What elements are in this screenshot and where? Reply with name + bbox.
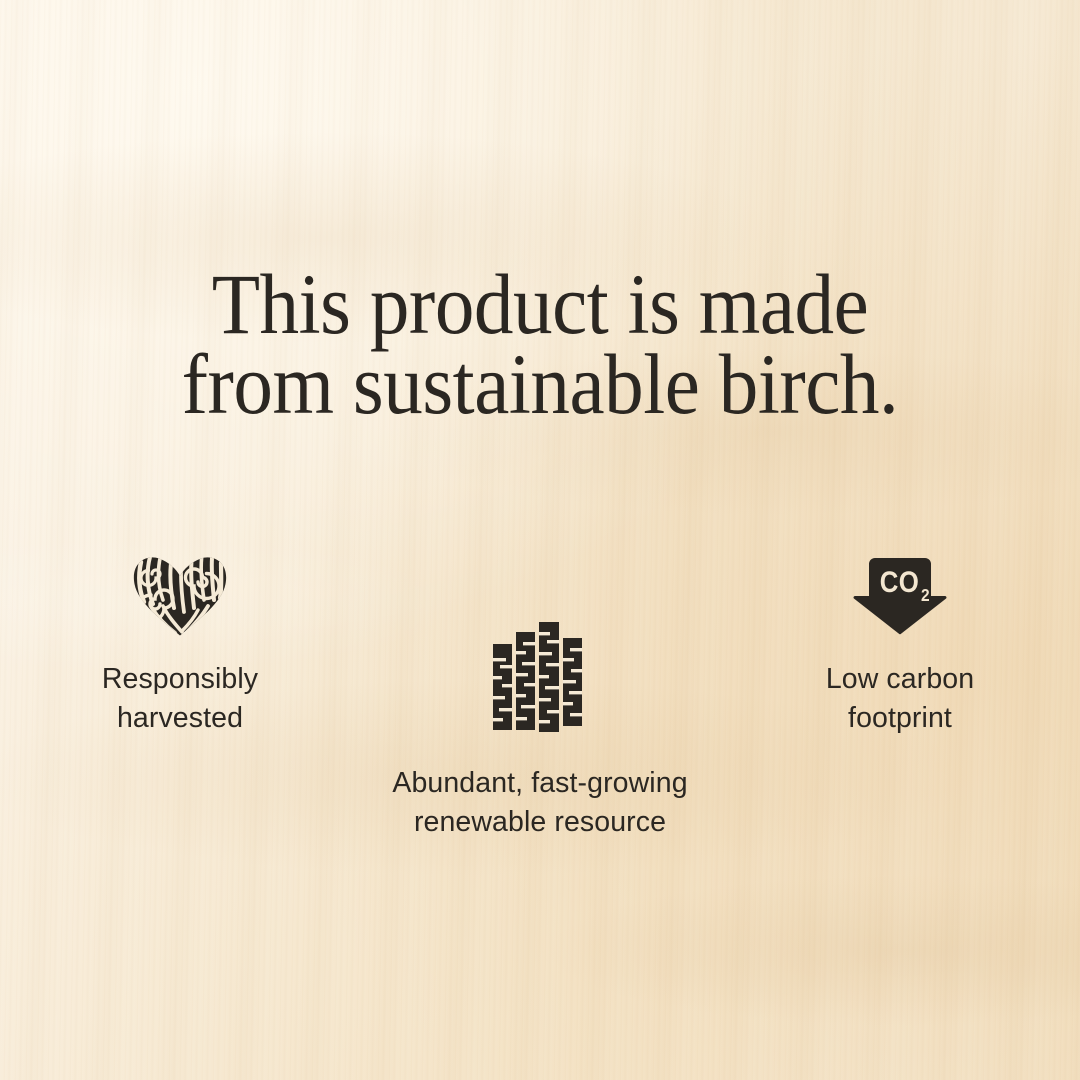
feature-icon-slot — [132, 540, 228, 636]
feature-caption: Abundant, fast-growing renewable resourc… — [392, 764, 687, 842]
feature-list: Responsibly harvested — [0, 540, 1080, 842]
caption-line-2: renewable resource — [392, 803, 687, 842]
feature-icon-slot — [491, 614, 589, 734]
feature-icon-slot: CO 2 — [852, 540, 948, 636]
feature-low-carbon-footprint: CO 2 Low carbon footprint — [720, 540, 1080, 738]
feature-caption: Responsibly harvested — [102, 660, 258, 738]
feature-caption: Low carbon footprint — [826, 660, 974, 738]
headline-line-2: from sustainable birch. — [43, 344, 1037, 424]
co2-subscript: 2 — [921, 585, 930, 605]
headline-line-1: This product is made — [43, 264, 1037, 344]
headline: This product is made from sustainable bi… — [43, 264, 1037, 424]
co2-label: CO — [880, 565, 920, 598]
caption-line-1: Abundant, fast-growing — [392, 764, 687, 803]
caption-line-2: footprint — [826, 699, 974, 738]
co2-down-arrow-icon: CO 2 — [852, 556, 948, 636]
feature-responsibly-harvested: Responsibly harvested — [0, 540, 360, 738]
sustainability-infographic: This product is made from sustainable bi… — [0, 0, 1080, 1080]
caption-line-2: harvested — [102, 699, 258, 738]
birch-trunks-icon — [491, 618, 589, 734]
caption-line-1: Responsibly — [102, 660, 258, 699]
feature-renewable-resource: Abundant, fast-growing renewable resourc… — [360, 540, 720, 842]
wood-grain-heart-icon — [132, 556, 228, 636]
caption-line-1: Low carbon — [826, 660, 974, 699]
